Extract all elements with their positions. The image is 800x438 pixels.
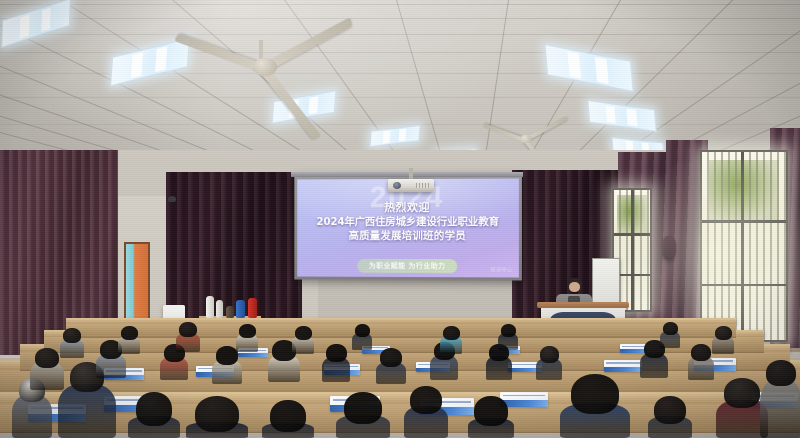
audience-member (128, 392, 180, 438)
audience-member-head (501, 324, 516, 337)
audience-member-head (344, 392, 382, 424)
audience-member (352, 324, 372, 350)
classroom-photo: 2024 热烈欢迎 2024年广西住房城乡建设行业职业教育 高质量发展培训班的学… (0, 0, 800, 438)
audience-member (236, 324, 258, 352)
audience-member-head (540, 346, 559, 363)
audience-member (760, 360, 800, 438)
audience-member (322, 344, 350, 382)
audience-member (648, 396, 692, 438)
audience-member (440, 326, 462, 354)
audience-member-head (136, 392, 172, 426)
audience-member-head (270, 400, 306, 432)
audience-member (660, 322, 680, 348)
audience-member (118, 326, 140, 354)
audience-member-head (571, 374, 619, 414)
audience-member-head (195, 396, 239, 432)
audience-member-head (443, 326, 460, 340)
audience-member (176, 322, 200, 352)
audience-member (336, 392, 390, 438)
audience-member-head (654, 396, 686, 424)
audience-member (404, 386, 448, 438)
audience-member (468, 396, 514, 438)
audience-member (560, 374, 630, 438)
audience-member-head (326, 344, 347, 362)
audience-member (186, 396, 248, 438)
audience-group (0, 0, 800, 438)
audience-member-shoulders (58, 384, 116, 438)
audience-member-head (355, 324, 370, 337)
audience-member (60, 328, 84, 358)
audience-member-head (410, 386, 442, 414)
audience-member-head (35, 348, 59, 368)
audience-member-head (663, 322, 678, 335)
audience-member-head (295, 326, 312, 340)
audience-member-head (724, 378, 760, 408)
audience-member-head (63, 328, 81, 343)
audience-member (688, 344, 714, 380)
audience-member (262, 400, 314, 438)
audience-member-head (121, 326, 138, 340)
audience-member-shoulders (760, 379, 800, 438)
audience-member (498, 324, 518, 350)
audience-member-head (179, 322, 197, 337)
audience-member-head (216, 346, 238, 365)
audience-member-head (380, 348, 402, 367)
audience-member (376, 348, 406, 384)
audience-member-head (474, 396, 508, 426)
audience-member (536, 346, 562, 380)
audience-member (292, 326, 314, 354)
audience-member-head (239, 324, 256, 338)
audience-member-head (715, 326, 732, 340)
audience-member (712, 326, 734, 354)
audience-member-head (766, 360, 796, 386)
audience-member (30, 348, 64, 390)
audience-member-head (691, 344, 711, 361)
